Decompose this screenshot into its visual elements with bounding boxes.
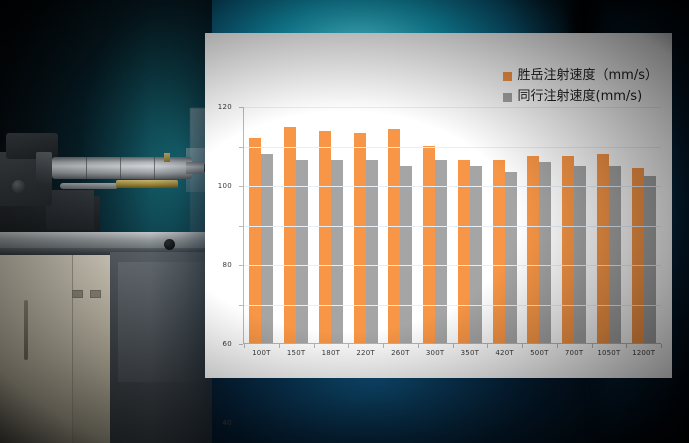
x-tick-mark <box>522 344 523 348</box>
bar-220T-series0 <box>354 133 366 343</box>
bar-220T-series1 <box>366 160 378 343</box>
bar-260T-series1 <box>400 166 412 343</box>
chart-panel: 胜岳注射速度（mm/s）同行注射速度(mm/s) 020406080100120… <box>205 33 672 378</box>
gridline <box>244 147 661 148</box>
x-axis-label-1050T: 1050T <box>592 349 627 357</box>
bar-1050T-series0 <box>597 154 609 343</box>
x-axis-labels: 100T150T180T220T260T300T350T420T500T700T… <box>244 349 661 357</box>
x-axis-label-700T: 700T <box>557 349 592 357</box>
x-tick-mark <box>244 344 245 348</box>
chart-plot-area: 020406080100120 <box>243 107 661 344</box>
y-tick-mark: 0 <box>239 344 243 345</box>
x-axis-label-500T: 500T <box>522 349 557 357</box>
bar-150T-series0 <box>284 127 296 343</box>
legend-label: 胜岳注射速度（mm/s） <box>518 68 658 84</box>
y-tick-label: 60 <box>222 340 232 348</box>
slide-canvas: 胜岳注射速度（mm/s）同行注射速度(mm/s) 020406080100120… <box>0 0 689 443</box>
y-tick-label: 100 <box>218 182 232 190</box>
photo-machine-base-secondary <box>46 190 94 230</box>
bar-300T-series0 <box>423 146 435 343</box>
x-axis-label-100T: 100T <box>244 349 279 357</box>
x-axis-label-420T: 420T <box>487 349 522 357</box>
x-axis-label-350T: 350T <box>453 349 488 357</box>
y-tick-mark: 20 <box>239 305 243 306</box>
x-axis-label-150T: 150T <box>279 349 314 357</box>
bar-1050T-series1 <box>609 166 621 343</box>
x-tick-mark <box>418 344 419 348</box>
legend-swatch-icon <box>503 72 512 81</box>
y-tick-mark: 80 <box>239 186 243 187</box>
photo-barrel-seam <box>120 157 121 179</box>
x-tick-mark <box>626 344 627 348</box>
bar-100T-series0 <box>249 138 261 343</box>
legend-item-0[interactable]: 胜岳注射速度（mm/s） <box>503 68 658 84</box>
x-axis-label-1200T: 1200T <box>626 349 661 357</box>
photo-cabinet-vent <box>72 290 83 298</box>
photo-cabinet-vent <box>90 290 101 298</box>
x-tick-mark <box>279 344 280 348</box>
photo-piston-rod <box>60 183 118 189</box>
photo-edge-fade <box>150 0 212 443</box>
photo-cabinet-handle <box>24 300 28 360</box>
x-axis-label-220T: 220T <box>348 349 383 357</box>
gridline <box>244 107 661 108</box>
injection-molding-machine-photo <box>0 0 212 443</box>
bar-420T-series1 <box>505 172 517 343</box>
y-tick-mark: 120 <box>239 107 243 108</box>
bar-180T-series1 <box>331 160 343 343</box>
y-tick-mark: 100 <box>239 147 243 148</box>
x-tick-mark <box>592 344 593 348</box>
x-tick-mark <box>348 344 349 348</box>
y-tick-label: 120 <box>218 103 232 111</box>
y-tick-label: 80 <box>222 261 232 269</box>
legend-item-1[interactable]: 同行注射速度(mm/s) <box>503 89 658 105</box>
y-tick-label: 40 <box>222 419 232 427</box>
bar-700T-series1 <box>574 166 586 343</box>
gridline <box>244 186 661 187</box>
chart-legend: 胜岳注射速度（mm/s）同行注射速度(mm/s) <box>503 68 658 111</box>
gridline <box>244 226 661 227</box>
y-tick-mark: 60 <box>239 226 243 227</box>
legend-label: 同行注射速度(mm/s) <box>518 89 643 105</box>
x-tick-mark <box>453 344 454 348</box>
bar-700T-series0 <box>562 156 574 343</box>
bar-500T-series0 <box>527 156 539 343</box>
bar-150T-series1 <box>296 160 308 343</box>
bar-350T-series0 <box>458 160 470 343</box>
x-tick-mark <box>314 344 315 348</box>
bar-1200T-series1 <box>644 176 656 343</box>
x-tick-mark <box>487 344 488 348</box>
bar-260T-series0 <box>388 129 400 343</box>
gridline <box>244 305 661 306</box>
x-tick-mark <box>661 344 662 348</box>
x-axis-label-180T: 180T <box>314 349 349 357</box>
bar-1200T-series0 <box>632 168 644 343</box>
gridline <box>244 265 661 266</box>
photo-barrel-clamp <box>36 152 52 186</box>
photo-control-cabinet-door <box>72 255 110 443</box>
x-tick-mark <box>557 344 558 348</box>
photo-drive-port <box>12 180 25 193</box>
y-tick-mark: 40 <box>239 265 243 266</box>
bar-350T-series1 <box>470 166 482 343</box>
bar-500T-series1 <box>539 162 551 343</box>
bar-180T-series0 <box>319 131 331 343</box>
x-axis-label-300T: 300T <box>418 349 453 357</box>
bar-100T-series1 <box>261 154 273 343</box>
bar-420T-series0 <box>493 160 505 343</box>
bar-300T-series1 <box>435 160 447 343</box>
photo-barrel-seam <box>86 157 87 179</box>
x-tick-mark <box>383 344 384 348</box>
x-axis-label-260T: 260T <box>383 349 418 357</box>
legend-swatch-icon <box>503 93 512 102</box>
